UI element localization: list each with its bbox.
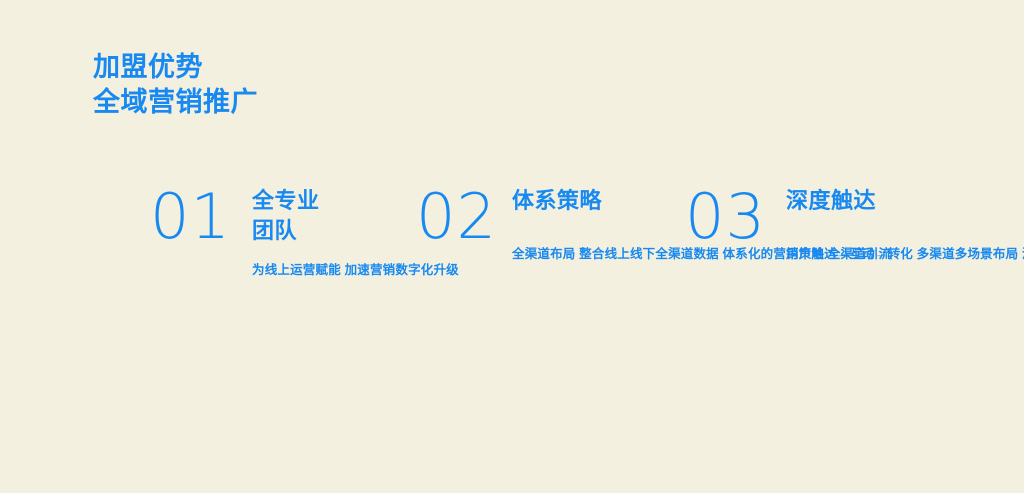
column-number-02: 02 — [416, 186, 497, 248]
column-title-03: 深度触达 — [786, 186, 1024, 216]
column-body-03: 用户触达→互动→转化 多渠道多场景布局 深度影响用户购买决策 形成消费粘性 — [786, 246, 1024, 263]
column-body-01: 为线上运营赋能 加速营销数字化升级 — [252, 262, 459, 279]
column-text-03: 深度触达 用户触达→互动→转化 多渠道多场景布局 深度影响用户购买决策 形成消费… — [786, 186, 1024, 263]
column-number-03: 03 — [685, 186, 766, 248]
advantage-columns: 01 全专业 团队 为线上运营赋能 加速营销数字化升级 02 体系策略 全渠道布… — [0, 0, 1024, 493]
column-number-01: 01 — [150, 186, 231, 248]
